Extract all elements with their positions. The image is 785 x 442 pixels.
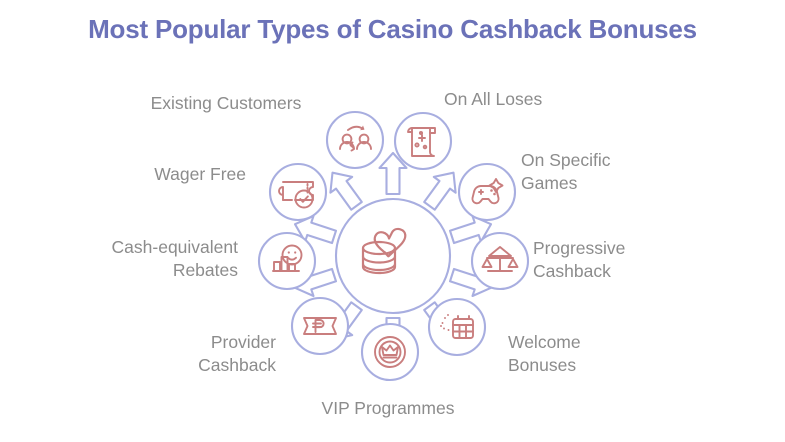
arrow-spoke <box>330 302 361 339</box>
node-label-vip-programmes: VIP Programmes <box>298 397 478 420</box>
node-wager-free[interactable] <box>270 164 326 220</box>
scroll-icon <box>408 128 435 156</box>
scale-balance-icon <box>483 247 518 271</box>
coins-heart-icon <box>363 229 405 273</box>
arrow-spokes-group <box>295 153 491 359</box>
node-ring <box>429 299 485 355</box>
satellite-nodes-group <box>259 112 528 380</box>
node-ring <box>292 298 348 354</box>
page-title: Most Popular Types of Casino Cashback Bo… <box>0 14 785 45</box>
arrow-spoke <box>295 216 336 243</box>
ticket-check-icon <box>279 182 313 208</box>
arrow-spoke <box>330 173 361 210</box>
node-provider-cashback[interactable] <box>292 298 348 354</box>
arrow-spoke <box>424 302 455 339</box>
calendar-sparkle-icon <box>440 314 473 338</box>
node-ring <box>270 164 326 220</box>
node-welcome-bonuses[interactable] <box>429 299 485 355</box>
node-ring <box>327 112 383 168</box>
node-progressive-cashback[interactable] <box>472 233 528 289</box>
node-ring <box>395 113 451 169</box>
node-label-on-all-loses: On All Loses <box>444 88 624 111</box>
node-cash-equivalent-rebates[interactable] <box>259 233 315 289</box>
crown-circle-icon <box>375 337 405 367</box>
ticket-peso-icon <box>304 318 336 334</box>
node-label-on-specific-games: On Specific Games <box>521 149 701 195</box>
hub-circle <box>336 199 450 313</box>
node-ring <box>362 324 418 380</box>
node-ring <box>259 233 315 289</box>
node-ring <box>472 233 528 289</box>
node-on-specific-games[interactable] <box>459 164 515 220</box>
arrow-spoke <box>450 269 491 296</box>
gamepad-sparkle-icon <box>472 179 502 203</box>
arrow-spoke <box>295 269 336 296</box>
users-recycle-icon <box>340 126 371 151</box>
node-on-all-loses[interactable] <box>395 113 451 169</box>
bar-chart-coin-icon <box>273 246 302 272</box>
node-label-existing-customers: Existing Customers <box>128 92 324 115</box>
node-label-wager-free: Wager Free <box>66 163 246 186</box>
infographic-canvas: Most Popular Types of Casino Cashback Bo… <box>0 0 785 442</box>
arrow-spoke <box>450 216 491 243</box>
arrow-spoke <box>424 173 455 210</box>
arrow-spoke <box>380 153 407 194</box>
arrow-spoke <box>380 318 407 359</box>
node-label-provider-cashback: Provider Cashback <box>86 331 276 377</box>
node-existing-customers[interactable] <box>327 112 383 168</box>
node-vip-programmes[interactable] <box>362 324 418 380</box>
node-label-progressive-cashback: Progressive Cashback <box>533 237 713 283</box>
node-label-welcome-bonuses: Welcome Bonuses <box>508 331 688 377</box>
node-label-cash-equivalent-rebates: Cash-equivalent Rebates <box>60 236 238 282</box>
node-ring <box>459 164 515 220</box>
